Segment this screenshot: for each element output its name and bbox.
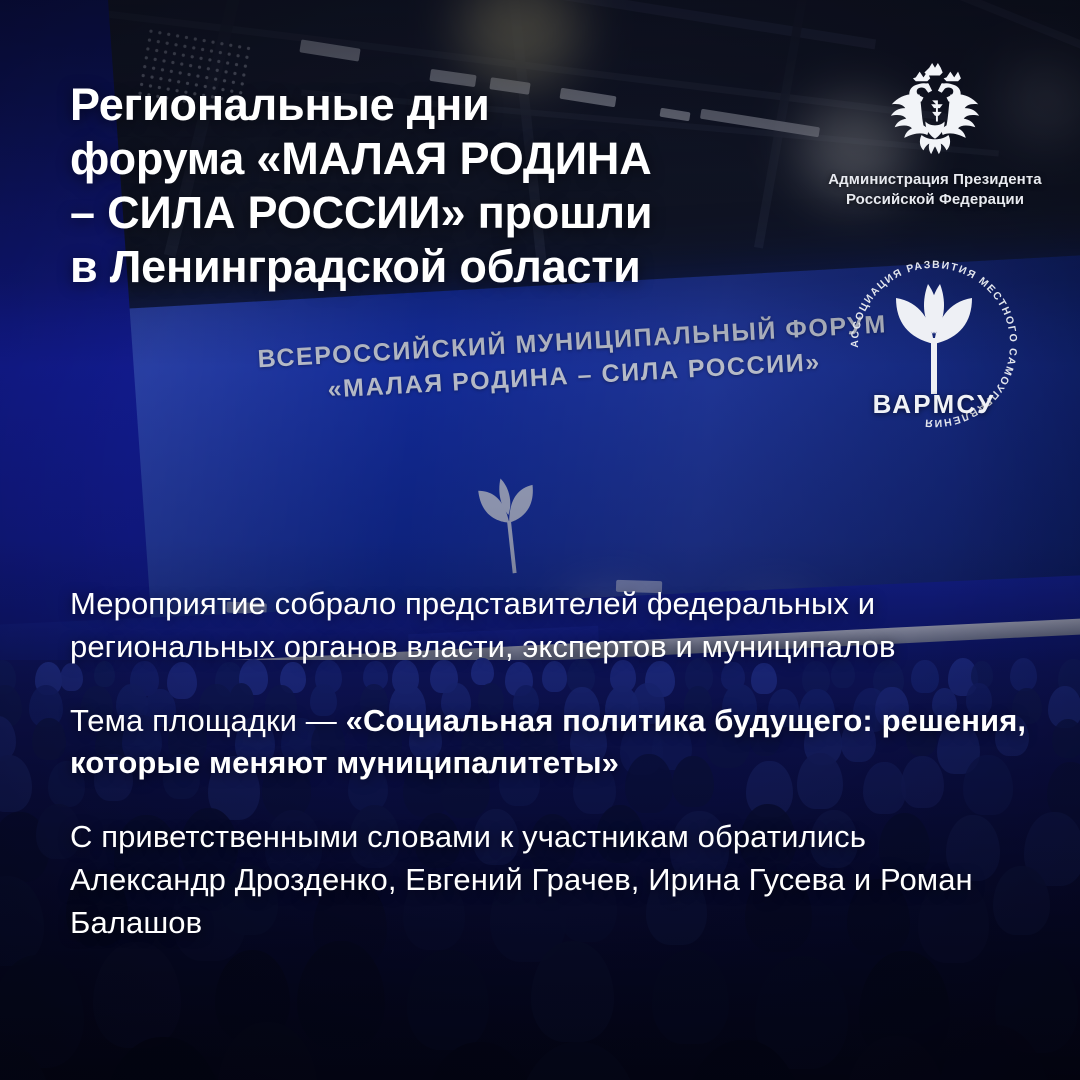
- presidential-administration-logo: Администрация Президента Российской Феде…: [812, 62, 1058, 210]
- body-paragraph: Тема площадки — «Социальная политика буд…: [70, 700, 1030, 786]
- body-paragraph: С приветственными словами к участникам о…: [70, 816, 1030, 944]
- body-text-segment: С приветственными словами к участникам о…: [70, 819, 973, 940]
- card-content: Региональные дни форума «МАЛАЯ РОДИНА – …: [0, 0, 1080, 1080]
- body-text-segment: Мероприятие собрало представителей федер…: [70, 586, 896, 664]
- headline-line-3: – СИЛА РОССИИ» прошли: [70, 186, 830, 240]
- varmsu-logo: ВСЕРОССИЙСКАЯ АССОЦИАЦИЯ РАЗВИТИЯ МЕСТНО…: [816, 256, 1052, 432]
- presidential-administration-caption: Администрация Президента Российской Феде…: [812, 170, 1058, 210]
- double-headed-eagle-icon: [887, 62, 983, 158]
- body-text: Мероприятие собрало представителей федер…: [70, 583, 1030, 944]
- page-title: Региональные дни форума «МАЛАЯ РОДИНА – …: [70, 78, 830, 294]
- body-paragraph: Мероприятие собрало представителей федер…: [70, 583, 1030, 669]
- headline-line-1: Региональные дни: [70, 78, 830, 132]
- body-text-segment: Тема площадки —: [70, 703, 346, 738]
- pa-caption-line1: Администрация Президента: [812, 170, 1058, 190]
- headline-line-2: форума «МАЛАЯ РОДИНА: [70, 132, 830, 186]
- info-card: ВСЕРОССИЙСКИЙ МУНИЦИПАЛЬНЫЙ ФОРУМ «МАЛАЯ…: [0, 0, 1080, 1080]
- pa-caption-line2: Российской Федерации: [812, 190, 1058, 210]
- headline-line-4: в Ленинградской области: [70, 240, 830, 294]
- varmsu-wordmark: ВАРМСУ: [846, 389, 1022, 420]
